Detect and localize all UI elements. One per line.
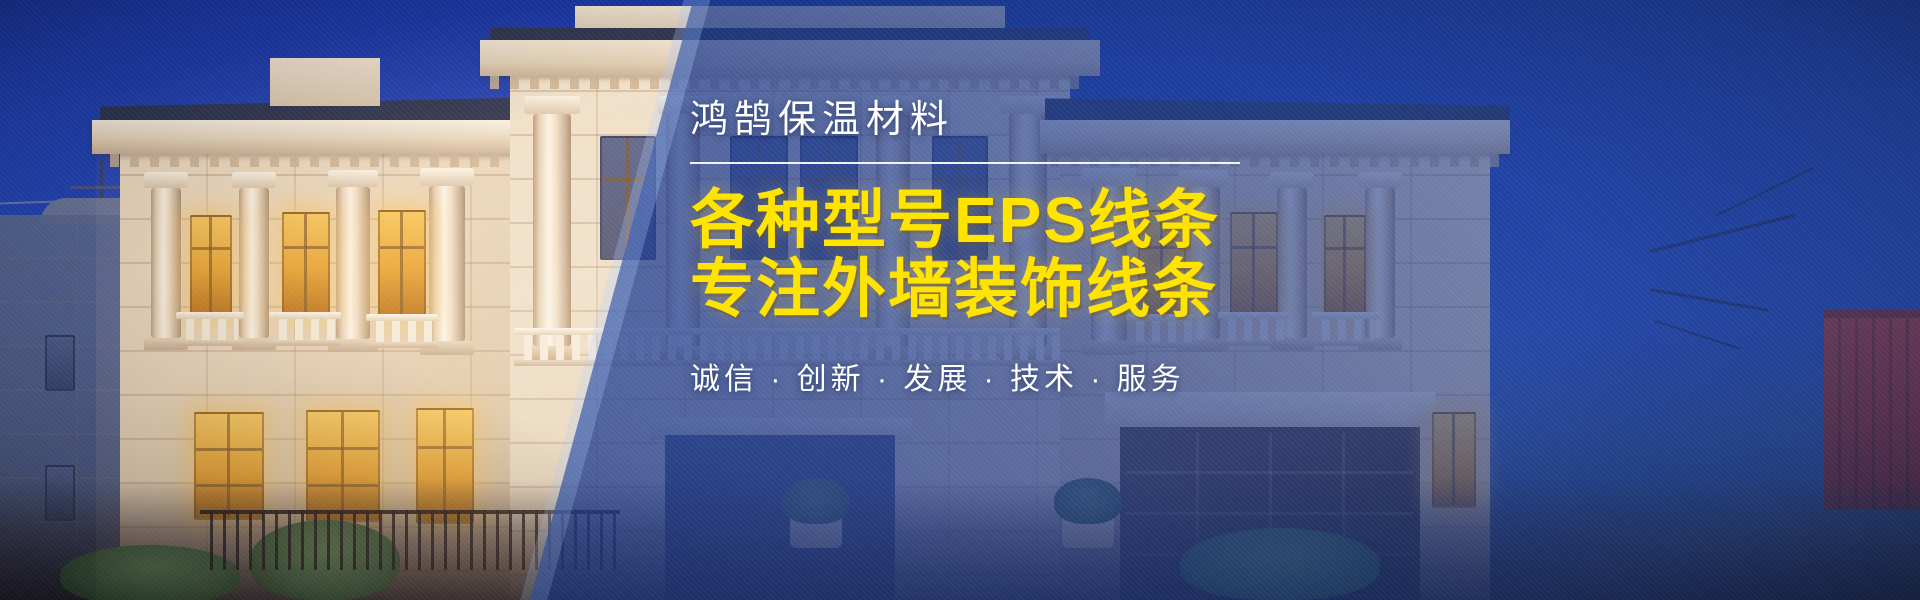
headline-line-1: 各种型号EPS线条 [690,186,1310,255]
tree-branch [1650,214,1796,253]
headline-line-2: 专注外墙装饰线条 [690,255,1310,324]
tagline: 诚信 · 创新 · 发展 · 技术 · 服务 [690,354,1310,398]
tree-branch [1650,288,1769,312]
window-lit [190,215,232,315]
banner-copy: 鸿鹄保温材料 各种型号EPS线条 专注外墙装饰线条 诚信 · 创新 · 发展 ·… [690,100,1310,398]
shrub [1054,478,1122,524]
center-cornice [480,40,1100,76]
roof-parapet [575,6,1005,30]
hedge [1180,528,1380,600]
dentil-row-left [110,154,530,167]
chimney [270,58,380,106]
shrub [782,478,850,524]
window-lit [378,210,426,318]
terrace-railing [200,510,620,570]
brand-name: 鸿鹄保温材料 [690,100,1310,142]
tree-branch [1655,320,1741,350]
left-wing-cornice [92,120,542,154]
window-lit [1324,215,1366,315]
hero-banner: 鸿鹄保温材料 各种型号EPS线条 专注外墙装饰线条 诚信 · 创新 · 发展 ·… [0,0,1920,600]
headline: 各种型号EPS线条 专注外墙装饰线条 [690,186,1310,324]
window-dark [600,136,656,260]
divider-rule [690,162,1240,164]
dentil-row-center [490,76,1090,89]
window-lit [282,212,330,316]
tree-branch [1715,167,1815,217]
